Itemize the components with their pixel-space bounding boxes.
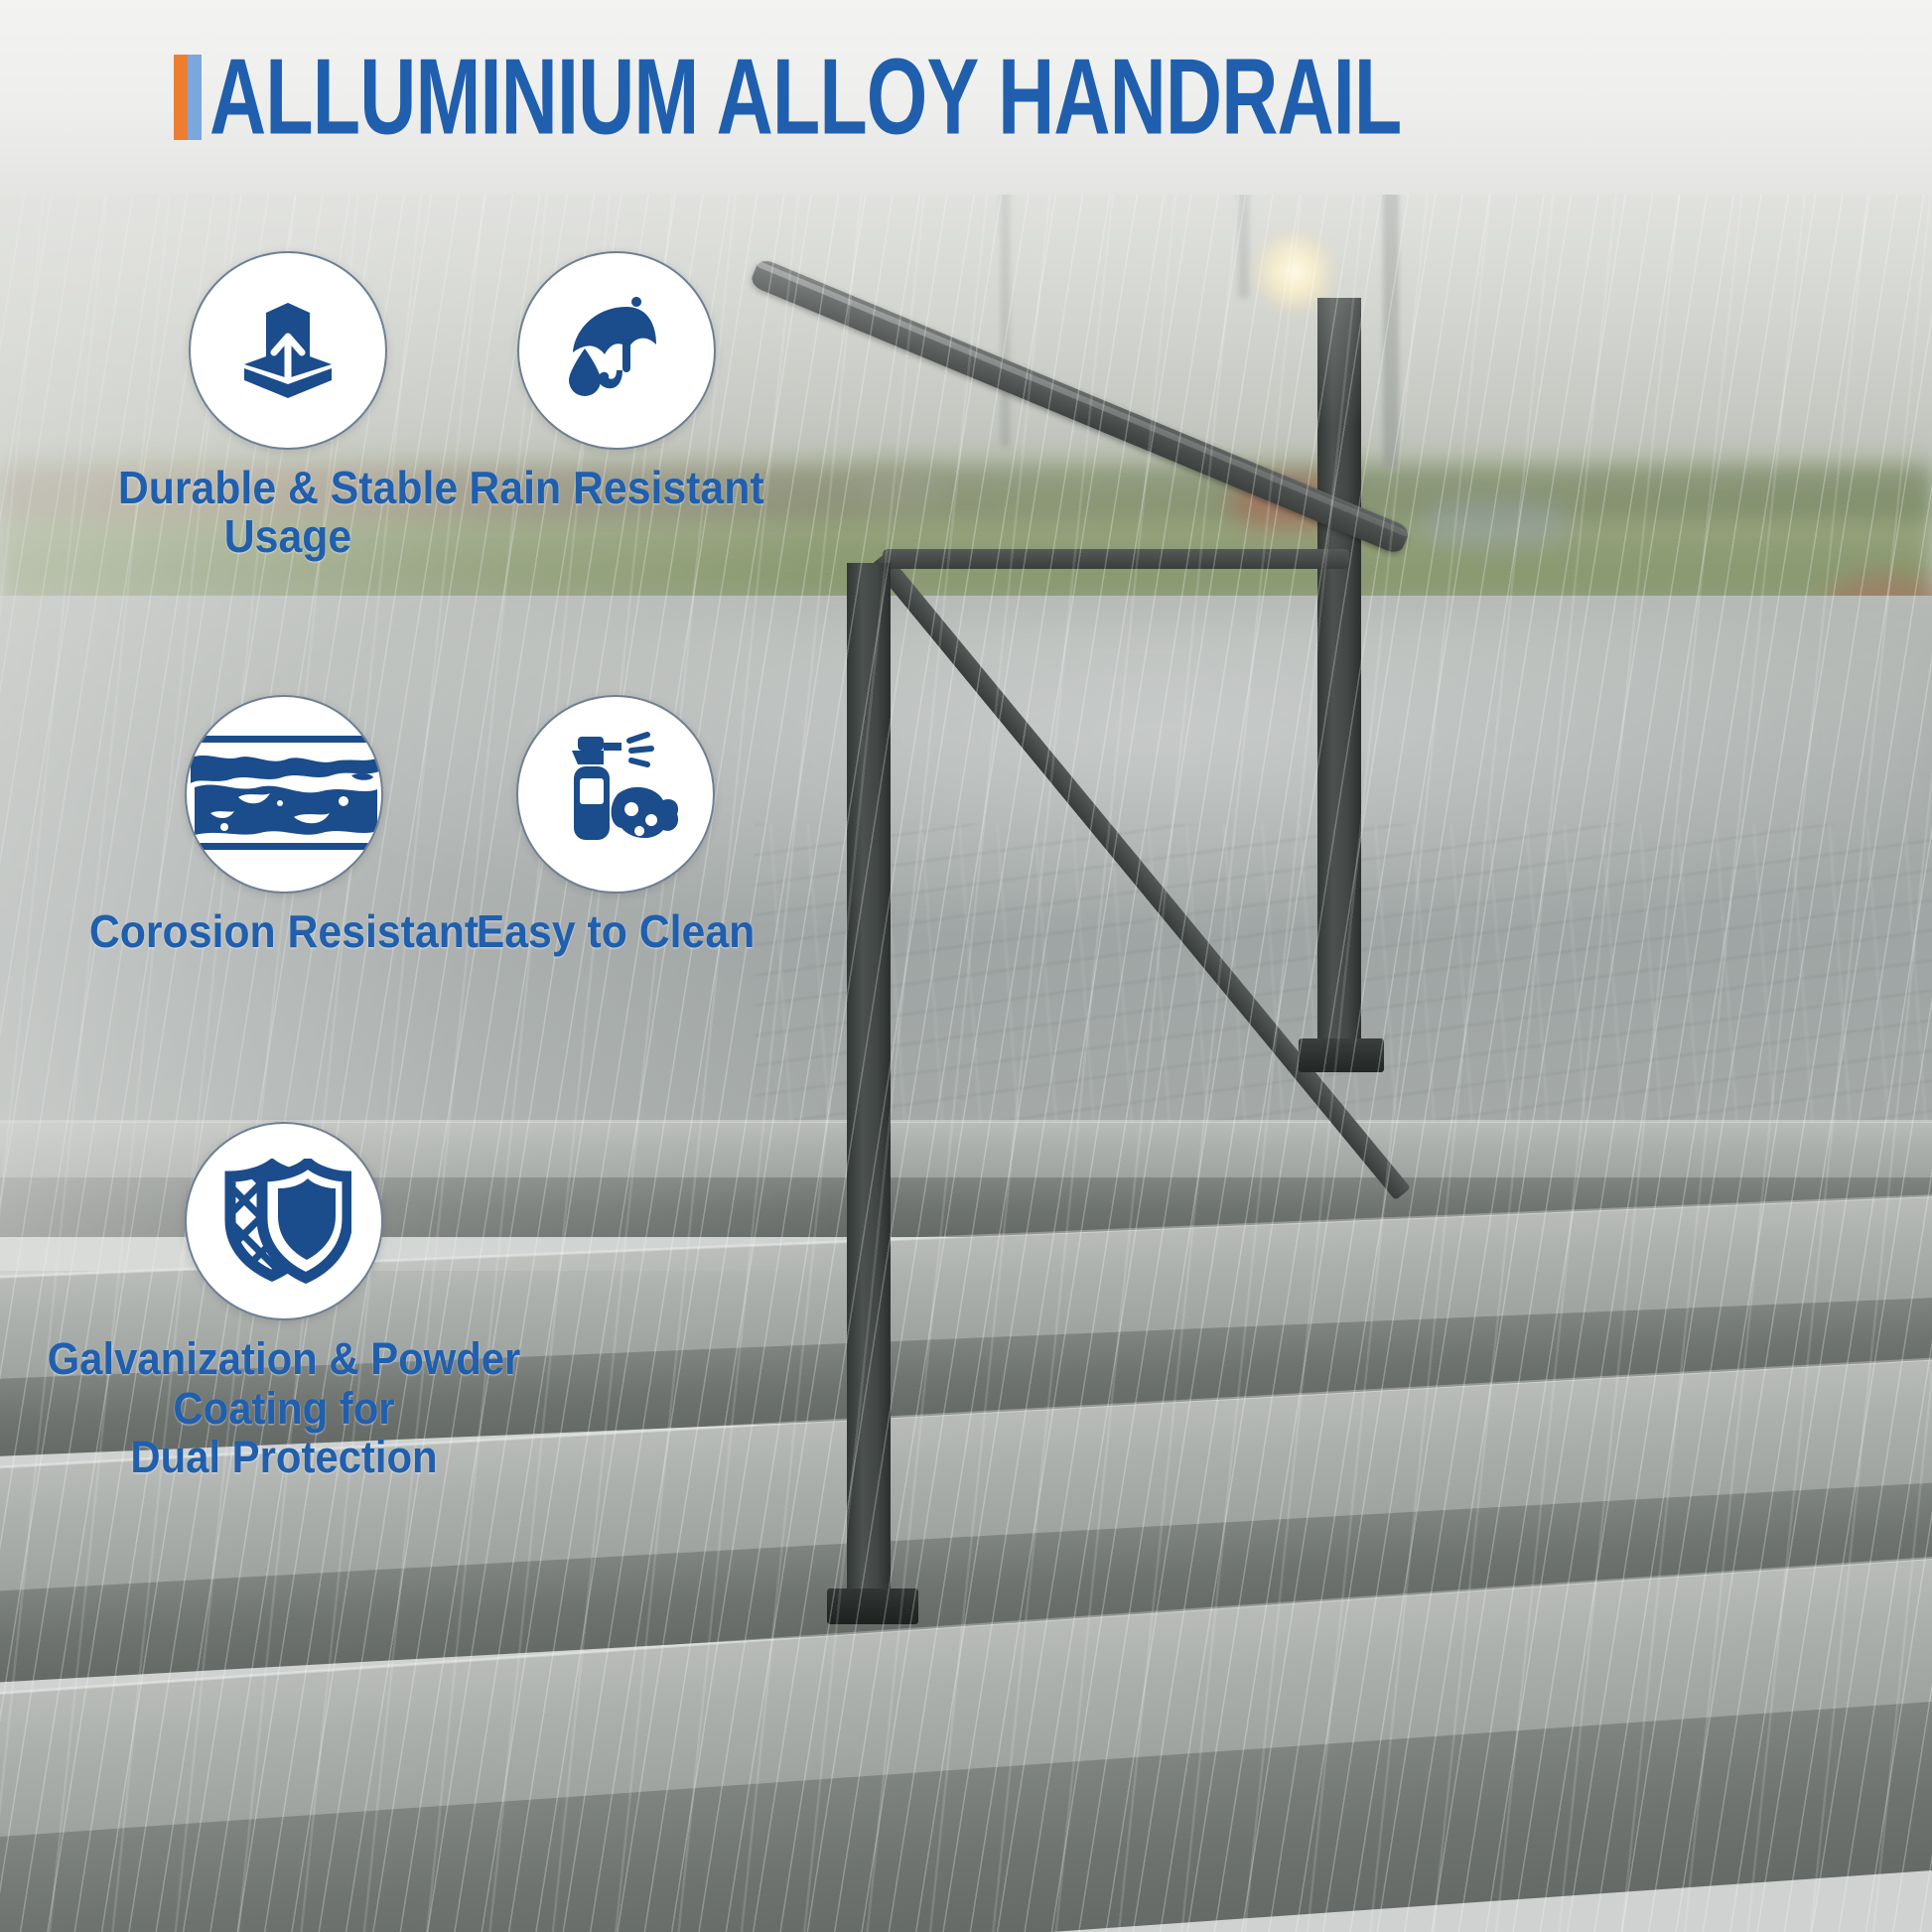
handrail-post-left — [847, 563, 891, 1615]
feature-label: Easy to Clean — [459, 907, 772, 956]
feature-rain-resistant: Rain Resistant — [517, 251, 785, 512]
handrail-base-plate — [1299, 1038, 1384, 1072]
handrail-mid-rail — [883, 549, 1349, 569]
handrail-base-plate — [827, 1588, 918, 1624]
feature-label: Corosion Resistant — [63, 907, 505, 956]
page-title: ALLUMINIUM ALLOY HANDRAIL — [209, 44, 1401, 152]
feature-label: Durable & Stable Usage — [94, 464, 483, 561]
header-banner: ALLUMINIUM ALLOY HANDRAIL — [0, 0, 1932, 195]
umbrella-with-raindrop-icon — [551, 287, 682, 414]
feature-icon-circle — [189, 251, 387, 450]
title-accent-bars — [174, 55, 202, 140]
feature-durable-stable-usage: Durable & Stable Usage — [189, 251, 496, 561]
feature-galvanization-powder-coating: Galvanization & Powder Coating for Dual … — [185, 1122, 562, 1482]
background-blur — [1420, 501, 1569, 547]
feature-icon-circle — [185, 1122, 383, 1320]
spray-bottle-and-sponge-icon — [548, 731, 683, 858]
corroded-surface-icon — [185, 732, 383, 857]
feature-label: Galvanization & Powder Coating for Dual … — [26, 1334, 543, 1482]
accent-bar-orange — [174, 55, 188, 140]
feature-icon-circle — [185, 695, 383, 894]
handrail-post-right — [1317, 298, 1361, 1062]
feature-easy-to-clean: Easy to Clean — [516, 695, 784, 956]
background-blur — [854, 467, 943, 512]
feature-label: Rain Resistant — [460, 464, 773, 512]
feature-icon-circle — [516, 695, 715, 894]
feature-icon-circle — [517, 251, 716, 450]
box-with-up-arrow-icon — [224, 287, 351, 414]
double-shield-icon — [216, 1159, 351, 1284]
accent-bar-blue — [188, 55, 202, 140]
